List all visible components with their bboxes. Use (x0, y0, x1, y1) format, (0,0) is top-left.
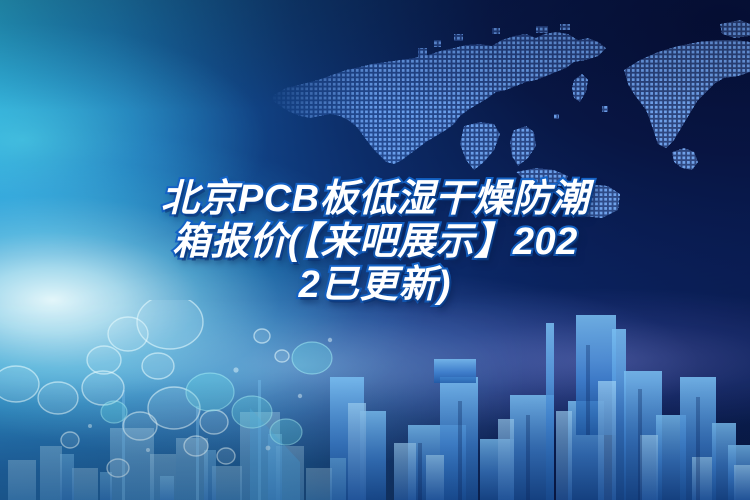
bubble-decoration (0, 300, 470, 500)
headline-line-2: 箱报价(【来吧展示】202 (46, 221, 704, 264)
page-title: 北京PCB板低湿干燥防潮 箱报价(【来吧展示】202 2已更新) (0, 178, 750, 307)
headline-line-1: 北京PCB板低湿干燥防潮 (46, 178, 704, 221)
headline-line-3: 2已更新) (46, 264, 704, 307)
promo-banner: 北京PCB板低湿干燥防潮 箱报价(【来吧展示】202 2已更新) (0, 0, 750, 500)
